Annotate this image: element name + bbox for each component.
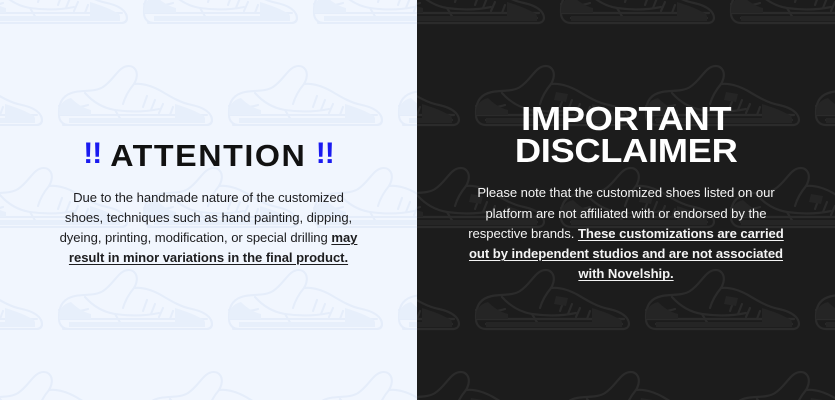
exclamation-icon-right: !!	[316, 139, 334, 169]
disclaimer-body-text: Please note that the customized shoes li…	[467, 183, 785, 284]
attention-body-regular: Due to the handmade nature of the custom…	[60, 190, 353, 245]
disclaimer-heading-line1: IMPORTANT	[515, 103, 738, 135]
attention-panel: !! ATTENTION !! Due to the handmade natu…	[0, 0, 417, 400]
disclaimer-panel: IMPORTANT DISCLAIMER Please note that th…	[417, 0, 835, 400]
attention-heading-word: ATTENTION	[110, 140, 306, 171]
attention-heading: !! ATTENTION !!	[83, 140, 334, 171]
exclamation-icon-left: !!	[83, 139, 101, 169]
disclaimer-heading: IMPORTANT DISCLAIMER	[515, 103, 738, 167]
attention-body-text: Due to the handmade nature of the custom…	[59, 188, 359, 269]
disclaimer-heading-line2: DISCLAIMER	[515, 135, 738, 167]
dual-notice-banner: !! ATTENTION !! Due to the handmade natu…	[0, 0, 835, 400]
